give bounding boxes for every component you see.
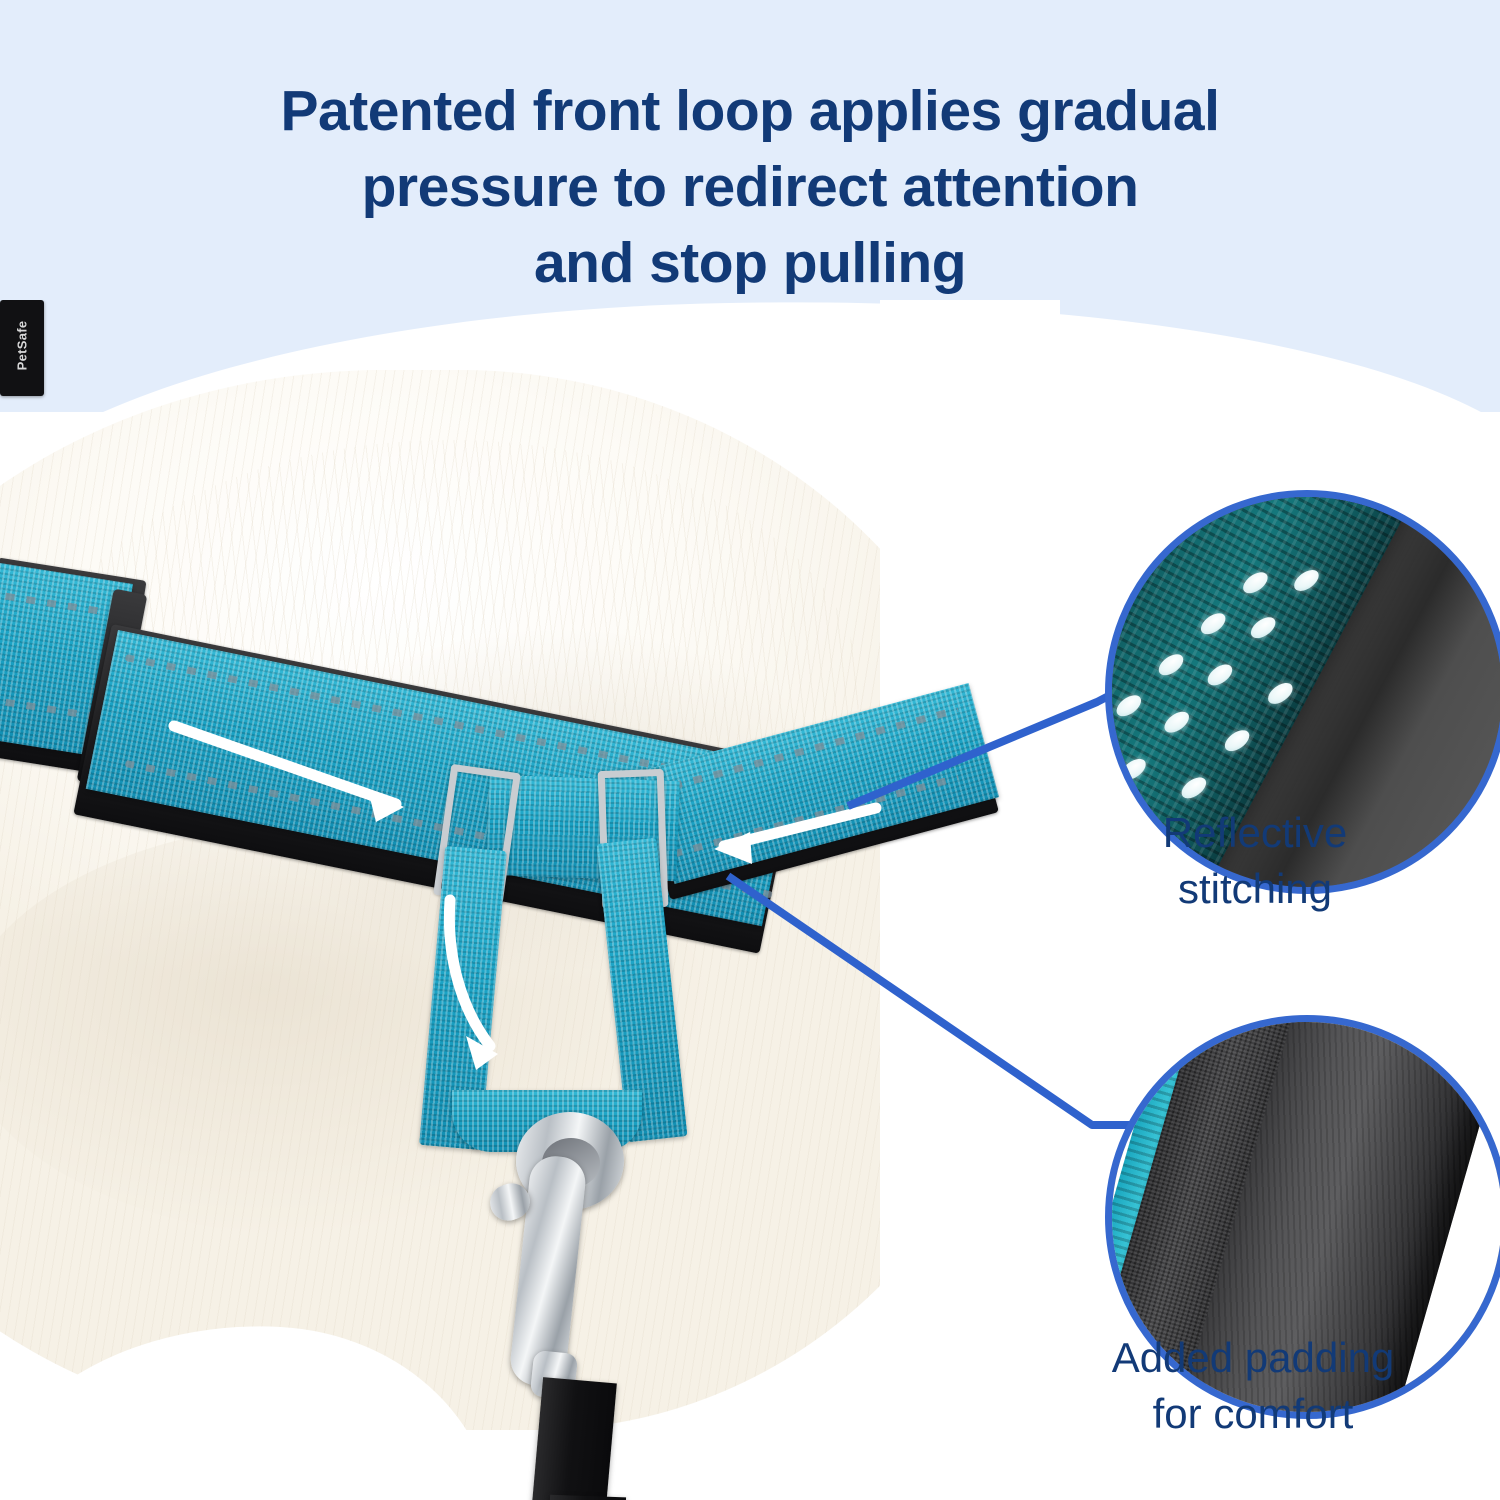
page-title: Patented front loop applies gradual pres… xyxy=(0,74,1500,301)
callout2-line-1: Added padding xyxy=(1053,1330,1453,1386)
reflective-dot xyxy=(1161,707,1193,736)
title-line-3: and stop pulling xyxy=(0,226,1500,302)
reflective-dot xyxy=(1221,726,1253,755)
reflective-dot xyxy=(1290,566,1322,595)
callout2-line-2: for comfort xyxy=(1053,1386,1453,1442)
reflective-dot xyxy=(1155,650,1187,679)
brand-tag: PetSafe xyxy=(0,300,44,396)
photo-right-mask xyxy=(880,300,1060,1500)
reflective-dot xyxy=(1117,755,1149,784)
reflective-dot xyxy=(1247,613,1279,642)
callout1-line-1: Reflective xyxy=(1055,805,1455,861)
reflective-dot xyxy=(1204,660,1236,689)
infographic-canvas: Patented front loop applies gradual pres… xyxy=(0,0,1500,1500)
reflective-dot xyxy=(1197,609,1229,638)
reflective-dot xyxy=(1239,568,1271,597)
title-line-1: Patented front loop applies gradual xyxy=(0,74,1500,150)
callout-label-added-padding: Added padding for comfort xyxy=(1053,1330,1453,1442)
product-photo: PetSafe xyxy=(0,300,1060,1500)
brand-tag-label: PetSafe xyxy=(15,300,30,392)
left-strap-arrow xyxy=(160,710,450,850)
callout1-line-2: stitching xyxy=(1055,861,1455,917)
leash-webbing-lower xyxy=(546,1495,626,1500)
reflective-dot xyxy=(1178,773,1210,802)
reflective-dot xyxy=(1113,691,1145,720)
leash-webbing xyxy=(529,1377,617,1500)
reflective-dot xyxy=(1264,679,1296,708)
title-line-2: pressure to redirect attention xyxy=(0,150,1500,226)
callout-label-reflective-stitching: Reflective stitching xyxy=(1055,805,1455,917)
right-strap-arrow xyxy=(680,790,890,880)
front-loop-arrow xyxy=(432,888,572,1108)
